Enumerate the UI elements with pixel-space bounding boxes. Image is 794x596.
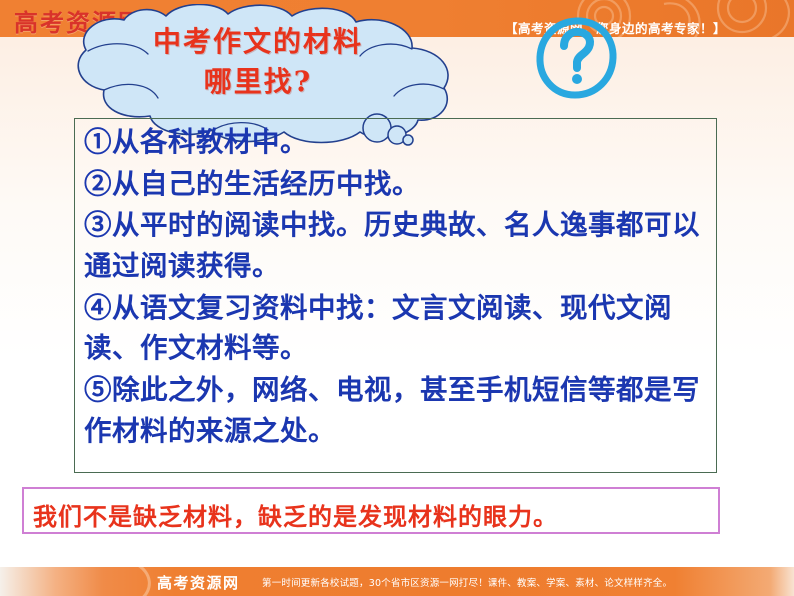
list-item: ⑤除此之外，网络、电视，甚至手机短信等都是写作材料的来源之处。	[84, 370, 712, 451]
list-item: ④从语文复习资料中找：文言文阅读、现代文阅读、作文材料等。	[84, 288, 712, 369]
list-item: ②从自己的生活经历中找。	[84, 164, 712, 205]
conclusion-text: 我们不是缺乏材料，缺乏的是发现材料的眼力。	[33, 497, 558, 532]
list-item: ③从平时的阅读中找。历史典故、名人逸事都可以通过阅读获得。	[84, 205, 712, 286]
footer-brand-logo: 高考资源网	[157, 572, 240, 593]
footer-swoosh-decoration	[132, 567, 158, 596]
slide-canvas: 高考资源网 【高考资源网，您身边的高考专家！】 中考作文的材料 哪里找?	[0, 0, 794, 596]
question-mark-icon	[534, 16, 618, 100]
list-item: ①从各科教材中。	[84, 122, 712, 163]
source-list: ①从各科教材中。 ②从自己的生活经历中找。 ③从平时的阅读中找。历史典故、名人逸…	[84, 122, 712, 453]
footer-tagline: 第一时间更新各校试题，30个省市区资源一网打尽！课件、教案、学案、素材、论文样样…	[262, 575, 672, 589]
